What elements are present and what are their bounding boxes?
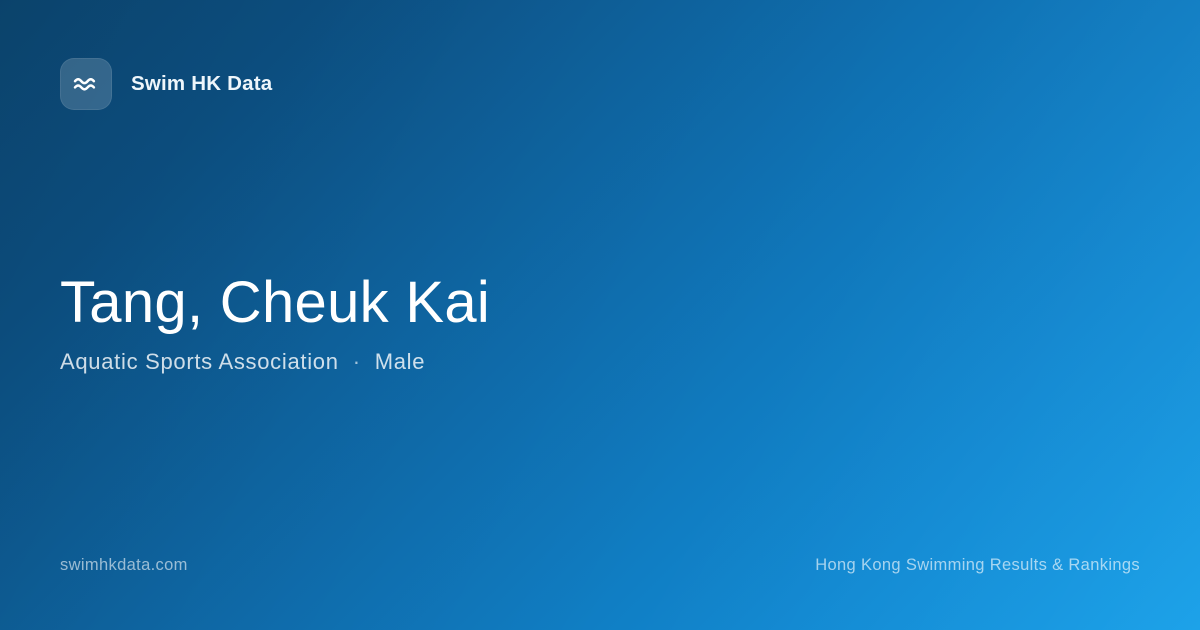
site-url[interactable]: swimhkdata.com bbox=[60, 556, 188, 575]
athlete-share-card: Swim HK Data Tang, Cheuk Kai Aquatic Spo… bbox=[0, 0, 1200, 630]
hero-block: Tang, Cheuk Kai Aquatic Sports Associati… bbox=[60, 272, 490, 375]
brand-name: Swim HK Data bbox=[131, 72, 272, 96]
athlete-name: Tang, Cheuk Kai bbox=[60, 272, 490, 333]
brand-logo-tile bbox=[60, 58, 112, 110]
card-footer: swimhkdata.com Hong Kong Swimming Result… bbox=[60, 556, 1140, 575]
athlete-meta: Aquatic Sports Association · Male bbox=[60, 349, 490, 375]
brand-header[interactable]: Swim HK Data bbox=[60, 58, 272, 110]
meta-separator: · bbox=[353, 349, 361, 375]
athlete-gender: Male bbox=[375, 349, 426, 375]
athlete-club: Aquatic Sports Association bbox=[60, 349, 339, 375]
waves-icon bbox=[72, 73, 100, 95]
site-tagline: Hong Kong Swimming Results & Rankings bbox=[815, 556, 1140, 575]
